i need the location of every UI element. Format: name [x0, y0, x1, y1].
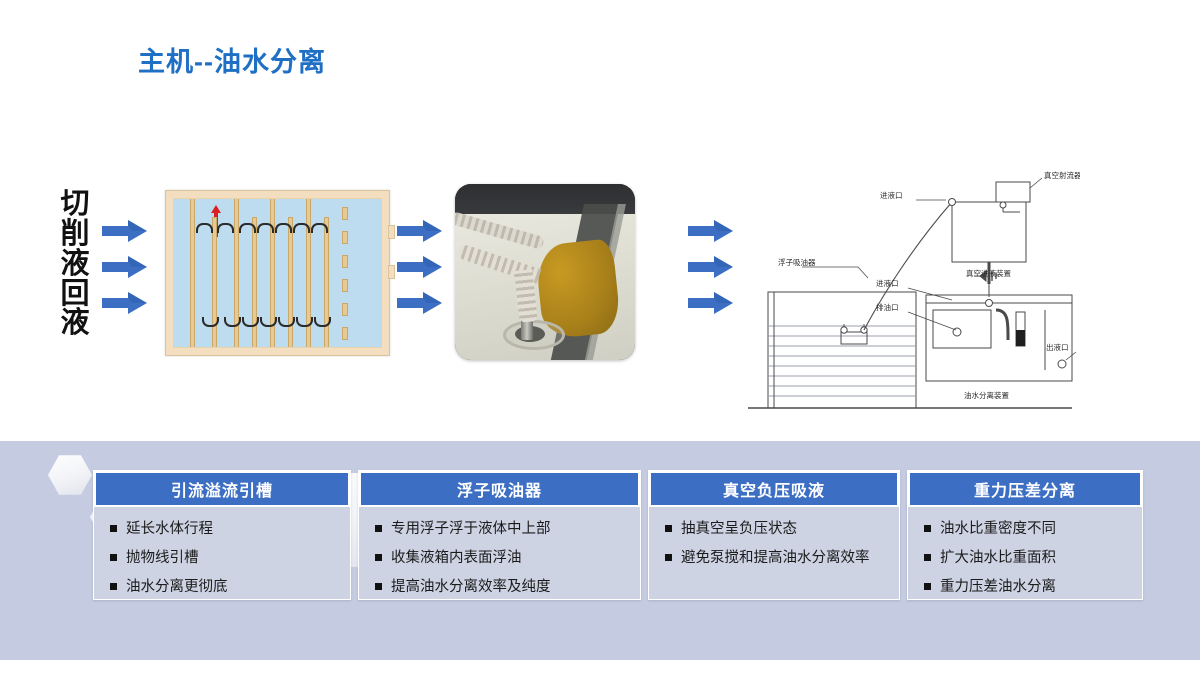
label-oil-drain: 排油口: [876, 302, 899, 312]
overflow-slot: [342, 303, 348, 316]
oil-water-separation-schematic: 浮子吸油器 进液口 真空射流器 真空进液装置 进液口 排油口 出液口 油水分离装…: [740, 160, 1080, 412]
list-item: 抛物线引槽: [110, 549, 350, 567]
list-item-label: 避免泵搅和提高油水分离效率: [681, 549, 870, 567]
label-separator-device: 油水分离装置: [964, 390, 1009, 400]
bullet-square-icon: [375, 525, 382, 532]
baffle: [324, 217, 329, 348]
list-item: 专用浮子浮于液体中上部: [375, 520, 640, 538]
label-vacuum-feed-device: 真空进液装置: [966, 268, 1011, 278]
overflow-slot: [342, 327, 348, 340]
flow-arrows-right: [688, 218, 734, 326]
list-item: 扩大油水比重面积: [924, 549, 1142, 567]
label-vacuum-ejector: 真空射流器: [1044, 170, 1080, 180]
bullet-square-icon: [924, 554, 931, 561]
tank-tab: [388, 265, 395, 279]
bullet-square-icon: [110, 554, 117, 561]
input-flow-char-2: 削: [54, 220, 96, 250]
bullet-square-icon: [110, 525, 117, 532]
channel-hook: [257, 223, 274, 233]
baffle: [288, 217, 293, 348]
baffle: [212, 217, 217, 348]
arrow-right-icon: [102, 254, 148, 280]
flow-arrows-left: [102, 218, 148, 326]
overflow-slot: [342, 255, 348, 268]
feature-card-4[interactable]: 重力压差分离 油水比重密度不同 扩大油水比重面积 重力压差油水分离: [907, 470, 1143, 600]
arrow-right-icon: [688, 254, 734, 280]
list-item: 油水比重密度不同: [924, 520, 1142, 538]
schematic-svg: 浮子吸油器 进液口 真空射流器 真空进液装置 进液口 排油口 出液口 油水分离装…: [740, 160, 1080, 412]
feature-card-1-title: 引流溢流引槽: [94, 471, 350, 507]
label-float-skimmer: 浮子吸油器: [778, 257, 816, 267]
serpentine-overflow-tank: [165, 190, 390, 356]
label-inlet-top: 进液口: [880, 190, 903, 200]
arrow-right-icon: [397, 290, 443, 316]
feature-card-1-body: 延长水体行程 抛物线引槽 油水分离更彻底: [94, 507, 350, 617]
list-item-label: 重力压差油水分离: [940, 578, 1056, 596]
arrow-right-icon: [688, 218, 734, 244]
list-item: 收集液箱内表面浮油: [375, 549, 640, 567]
channel-hook: [217, 223, 234, 233]
list-item-label: 油水分离更彻底: [126, 578, 228, 596]
channel-hook: [196, 223, 213, 233]
overflow-slot: [342, 231, 348, 244]
arrow-right-icon: [688, 290, 734, 316]
label-outlet: 出液口: [1046, 342, 1069, 352]
float-oil-skimmer-photo: [455, 184, 635, 360]
list-item-label: 抽真空呈负压状态: [681, 520, 797, 538]
bullet-square-icon: [375, 554, 382, 561]
list-item-label: 抛物线引槽: [126, 549, 199, 567]
baffle: [190, 198, 195, 348]
overflow-slot: [342, 279, 348, 292]
channel-hook: [275, 223, 292, 233]
flow-arrows-middle: [397, 218, 443, 326]
bullet-square-icon: [375, 583, 382, 590]
input-flow-char-5: 液: [54, 309, 96, 339]
list-item-label: 扩大油水比重面积: [940, 549, 1056, 567]
list-item-label: 收集液箱内表面浮油: [391, 549, 522, 567]
band-bottom-strip: [0, 660, 1200, 675]
feature-card-3-body: 抽真空呈负压状态 避免泵搅和提高油水分离效率: [649, 507, 899, 588]
arrow-right-icon: [397, 218, 443, 244]
arrow-right-icon: [102, 218, 148, 244]
hexagon-decoration: [48, 454, 92, 496]
slide-canvas: 主机--油水分离 切 削 液 回 液: [0, 0, 1200, 675]
list-item: 延长水体行程: [110, 520, 350, 538]
tank-tab: [388, 225, 395, 239]
input-flow-char-4: 回: [54, 280, 96, 310]
list-item: 提高油水分离效率及纯度: [375, 578, 640, 596]
tank-water-body: [173, 198, 382, 348]
input-flow-char-1: 切: [54, 190, 96, 220]
feature-card-1[interactable]: 引流溢流引槽 延长水体行程 抛物线引槽 油水分离更彻底: [93, 470, 351, 600]
list-item-label: 油水比重密度不同: [940, 520, 1056, 538]
channel-hook: [311, 223, 328, 233]
list-item: 油水分离更彻底: [110, 578, 350, 596]
feature-card-4-body: 油水比重密度不同 扩大油水比重面积 重力压差油水分离: [908, 507, 1142, 617]
page-title: 主机--油水分离: [138, 40, 326, 79]
list-item-label: 专用浮子浮于液体中上部: [391, 520, 551, 538]
list-item: 抽真空呈负压状态: [665, 520, 899, 538]
bullet-square-icon: [110, 583, 117, 590]
bullet-square-icon: [924, 525, 931, 532]
list-item: 避免泵搅和提高油水分离效率: [665, 549, 899, 567]
arrow-right-icon: [397, 254, 443, 280]
input-flow-char-3: 液: [54, 250, 96, 280]
channel-hook: [239, 223, 256, 233]
list-item-label: 延长水体行程: [126, 520, 213, 538]
feature-card-4-title: 重力压差分离: [908, 471, 1142, 507]
feature-card-2-title: 浮子吸油器: [359, 471, 640, 507]
feature-card-3-title: 真空负压吸液: [649, 471, 899, 507]
feature-card-2-body: 专用浮子浮于液体中上部 收集液箱内表面浮油 提高油水分离效率及纯度: [359, 507, 640, 617]
label-inlet-lower: 进液口: [876, 278, 899, 288]
bullet-square-icon: [665, 554, 672, 561]
input-flow-label: 切 削 液 回 液: [54, 190, 96, 339]
arrow-right-icon: [102, 290, 148, 316]
list-item: 重力压差油水分离: [924, 578, 1142, 596]
feature-card-3[interactable]: 真空负压吸液 抽真空呈负压状态 避免泵搅和提高油水分离效率: [648, 470, 900, 600]
list-item-label: 提高油水分离效率及纯度: [391, 578, 551, 596]
feature-card-2[interactable]: 浮子吸油器 专用浮子浮于液体中上部 收集液箱内表面浮油 提高油水分离效率及纯度: [358, 470, 641, 600]
bullet-square-icon: [924, 583, 931, 590]
overflow-slot: [342, 207, 348, 220]
bullet-square-icon: [665, 525, 672, 532]
baffle: [252, 217, 257, 348]
channel-hook: [293, 223, 310, 233]
